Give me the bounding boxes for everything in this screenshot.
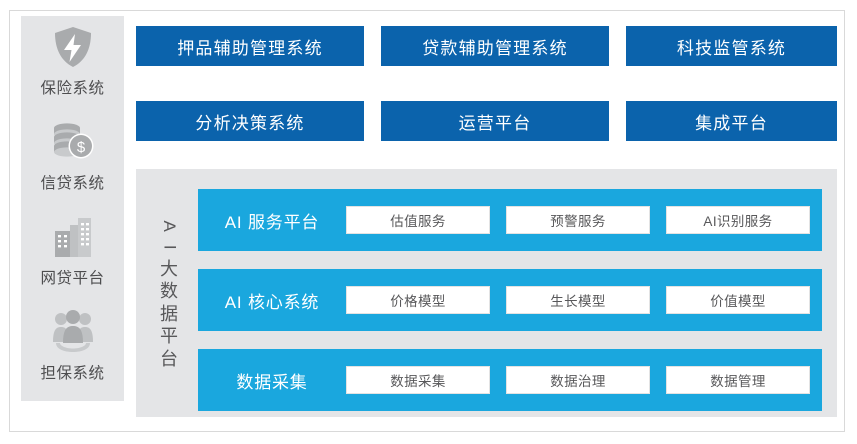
coins-dollar-icon: $	[50, 117, 96, 167]
top-bar-tech-supervision[interactable]: 科技监管系统	[626, 26, 837, 66]
diagram-canvas: 保险系统 $ 信贷系统	[0, 0, 857, 444]
vertical-char: 数	[160, 282, 178, 301]
vertical-char: I	[160, 245, 178, 250]
top-bar-label: 科技监管系统	[677, 34, 786, 59]
sidebar-item-label: 信贷系统	[40, 171, 104, 193]
top-bar-analysis-decision[interactable]: 分析决策系统	[136, 101, 364, 141]
vertical-char: 台	[160, 350, 178, 369]
sidebar-item-label: 保险系统	[40, 76, 104, 98]
chip-alert-service[interactable]: 预警服务	[506, 206, 650, 234]
chip-value-model[interactable]: 价值模型	[666, 286, 810, 314]
chip-data-collection[interactable]: 数据采集	[346, 366, 490, 394]
row-title: 数据采集	[198, 368, 346, 393]
chip-price-model[interactable]: 价格模型	[346, 286, 490, 314]
sidebar-item-online-loan[interactable]: 网贷平台	[21, 206, 124, 301]
platform-row-ai-service: AI 服务平台 估值服务 预警服务 AI识别服务	[198, 189, 822, 251]
sidebar-item-label: 网贷平台	[40, 266, 104, 288]
row-chips: 价格模型 生长模型 价值模型	[346, 286, 822, 314]
vertical-char: 据	[160, 305, 178, 324]
row-chips: 数据采集 数据治理 数据管理	[346, 366, 822, 394]
sidebar-item-credit[interactable]: $ 信贷系统	[21, 111, 124, 206]
platform-vertical-label: A I 大 数 据 平 台	[146, 185, 192, 401]
buildings-icon	[51, 212, 95, 262]
top-bar-collateral-aux-mgmt[interactable]: 押品辅助管理系统	[136, 26, 364, 66]
top-bar-label: 押品辅助管理系统	[177, 34, 323, 59]
chip-data-governance[interactable]: 数据治理	[506, 366, 650, 394]
row-title: AI 核心系统	[198, 288, 346, 313]
top-bar-label: 运营平台	[459, 109, 532, 134]
top-bar-operations-platform[interactable]: 运营平台	[381, 101, 609, 141]
vertical-char: 平	[160, 327, 178, 346]
vertical-char: 大	[160, 260, 178, 279]
row-title: AI 服务平台	[198, 208, 346, 233]
platform-row-data-collection: 数据采集 数据采集 数据治理 数据管理	[198, 349, 822, 411]
chip-growth-model[interactable]: 生长模型	[506, 286, 650, 314]
sidebar: 保险系统 $ 信贷系统	[21, 16, 124, 401]
row-chips: 估值服务 预警服务 AI识别服务	[346, 206, 822, 234]
top-bar-label: 分析决策系统	[195, 109, 304, 134]
top-bar-integration-platform[interactable]: 集成平台	[626, 101, 837, 141]
people-group-icon	[50, 307, 96, 357]
chip-ai-recognition-service[interactable]: AI识别服务	[666, 206, 810, 234]
chip-valuation-service[interactable]: 估值服务	[346, 206, 490, 234]
svg-text:$: $	[76, 139, 85, 156]
ai-bigdata-platform-panel: A I 大 数 据 平 台 AI 服务平台 估值服务 预警服务 AI识别服务 A…	[136, 169, 837, 417]
top-bar-label: 集成平台	[695, 109, 768, 134]
chip-data-management[interactable]: 数据管理	[666, 366, 810, 394]
vertical-char: A	[160, 221, 178, 232]
top-bar-label: 贷款辅助管理系统	[422, 34, 568, 59]
sidebar-item-insurance[interactable]: 保险系统	[21, 16, 124, 111]
sidebar-item-label: 担保系统	[40, 361, 104, 383]
shield-bolt-icon	[52, 22, 94, 72]
top-bar-loan-aux-mgmt[interactable]: 贷款辅助管理系统	[381, 26, 609, 66]
sidebar-item-guarantee[interactable]: 担保系统	[21, 301, 124, 396]
platform-row-ai-core: AI 核心系统 价格模型 生长模型 价值模型	[198, 269, 822, 331]
